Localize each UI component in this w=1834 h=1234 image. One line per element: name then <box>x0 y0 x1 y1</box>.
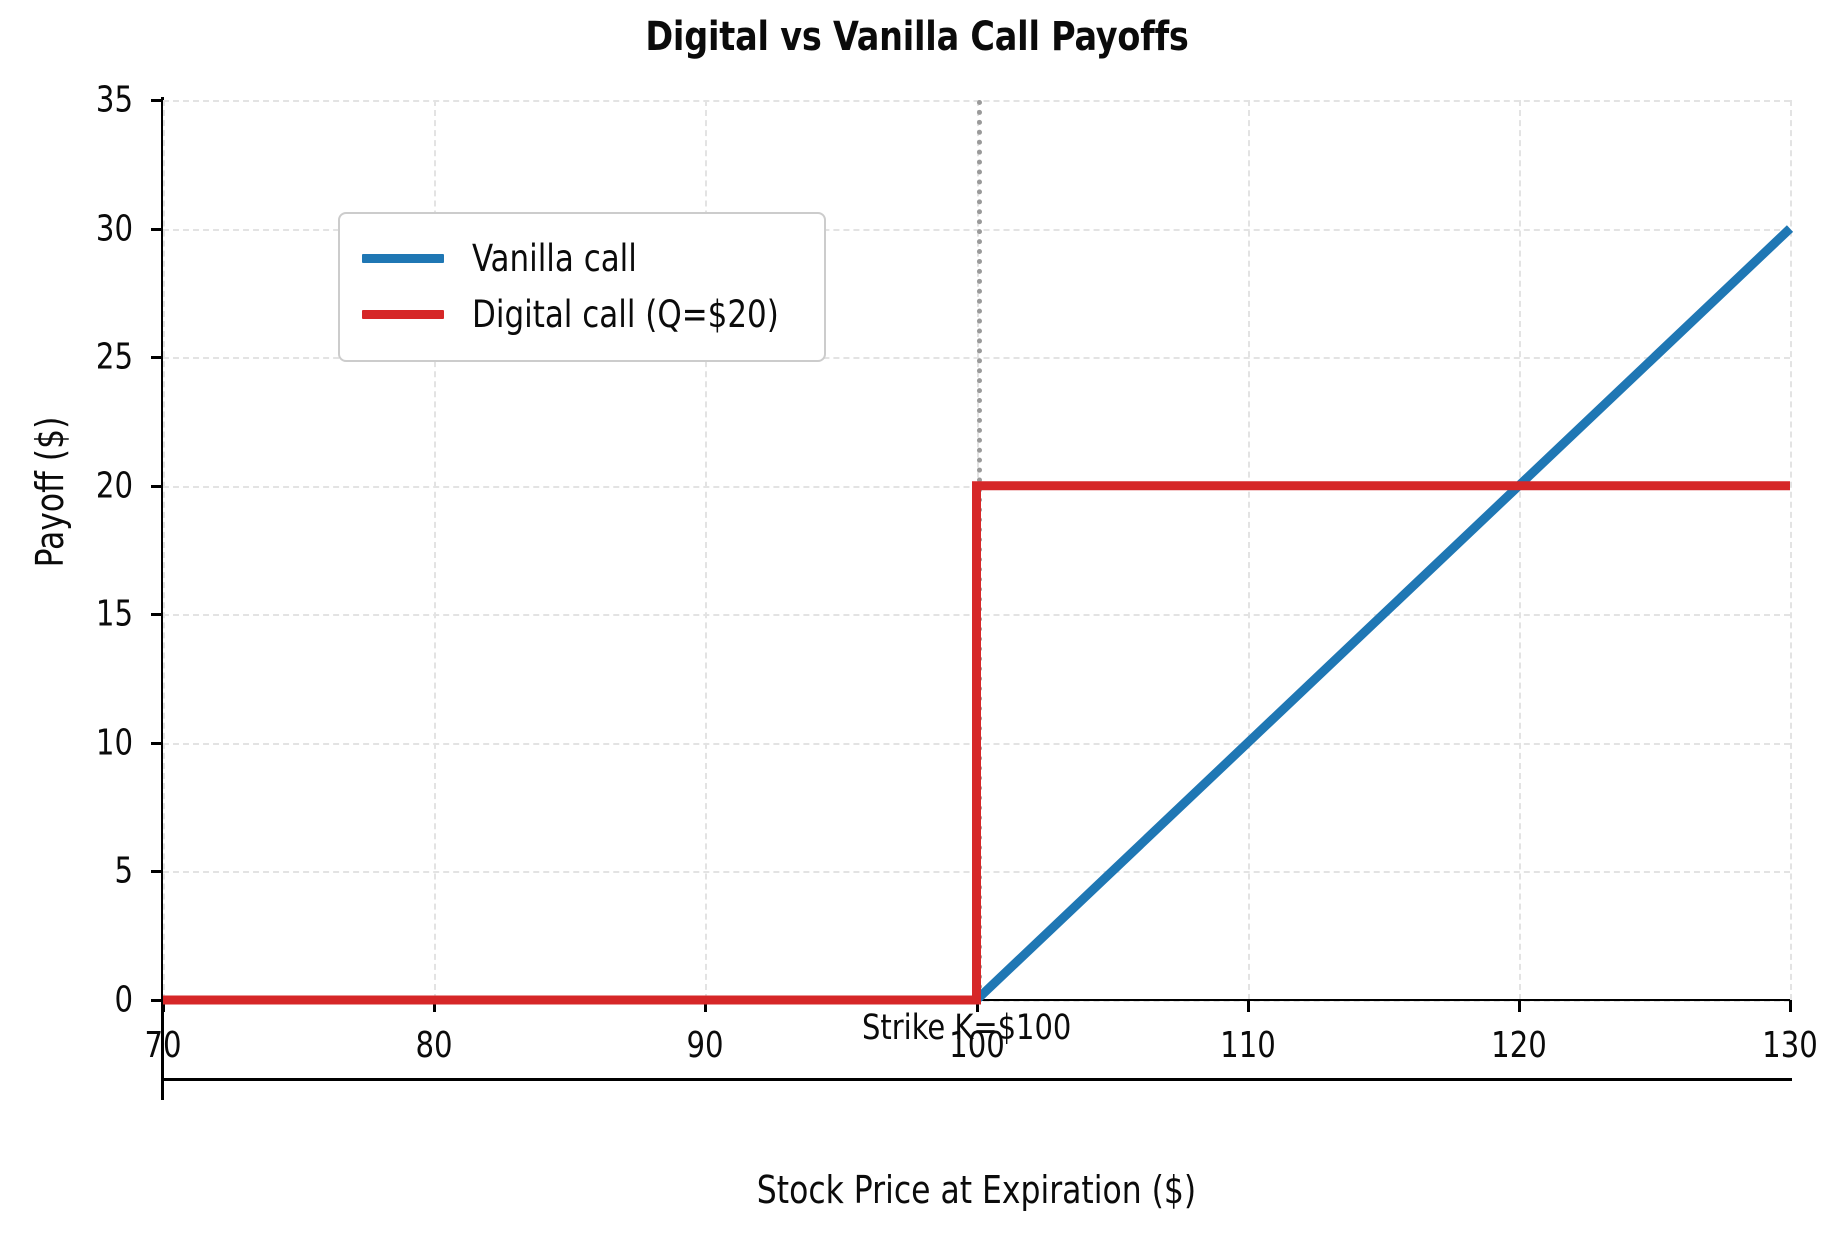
y-tick-mark <box>151 228 162 231</box>
x-tick-label: 110 <box>1220 1025 1276 1066</box>
y-tick-mark <box>151 742 162 745</box>
y-tick-label: 0 <box>114 980 133 1021</box>
x-tick-label: 90 <box>687 1025 724 1066</box>
y-tick-mark <box>151 485 162 488</box>
y-tick-label: 30 <box>96 208 133 249</box>
legend-item-vanilla-call[interactable]: Vanilla call <box>362 230 802 286</box>
y-tick-label: 20 <box>96 465 133 506</box>
y-tick-label: 25 <box>96 337 133 378</box>
y-tick-mark <box>151 613 162 616</box>
y-tick-mark <box>151 870 162 873</box>
x-tick-label: 80 <box>416 1025 453 1066</box>
x-tick-mark <box>1789 1000 1792 1012</box>
y-axis-label: Payoff ($) <box>28 299 72 685</box>
x-tick-label: 70 <box>144 1025 181 1066</box>
x-axis-spine <box>161 1078 1792 1081</box>
y-tick-label: 35 <box>96 80 133 121</box>
x-axis-label: Stock Price at Expiration ($) <box>228 1168 1725 1212</box>
x-tick-mark <box>1247 1000 1250 1012</box>
page-title: Digital vs Vanilla Call Payoffs <box>64 14 1770 60</box>
legend-label-digital-call: Digital call (Q=$20) <box>472 293 779 336</box>
legend-swatch-vanilla-call <box>362 254 444 263</box>
y-tick-label: 10 <box>96 722 133 763</box>
x-tick-label: 130 <box>1762 1025 1818 1066</box>
x-tick-label: 120 <box>1491 1025 1547 1066</box>
legend-swatch-digital-call <box>362 310 444 319</box>
chart-figure: Digital vs Vanilla Call Payoffs 05101520… <box>0 0 1834 1234</box>
legend: Vanilla call Digital call (Q=$20) <box>338 212 826 362</box>
y-tick-mark <box>151 999 162 1002</box>
y-tick-label: 15 <box>96 594 133 635</box>
plot-area: 05101520253035708090100110120130 Strike … <box>163 100 1790 1000</box>
legend-label-vanilla-call: Vanilla call <box>472 237 637 280</box>
legend-item-digital-call[interactable]: Digital call (Q=$20) <box>362 286 802 342</box>
gridline-vertical <box>1790 100 1792 1000</box>
y-tick-label: 5 <box>114 851 133 892</box>
strike-annotation: Strike K=$100 <box>862 1008 1071 1048</box>
y-tick-mark <box>151 356 162 359</box>
x-tick-mark <box>1518 1000 1521 1012</box>
y-tick-mark <box>151 99 162 102</box>
series-digital-call <box>163 486 1790 1000</box>
